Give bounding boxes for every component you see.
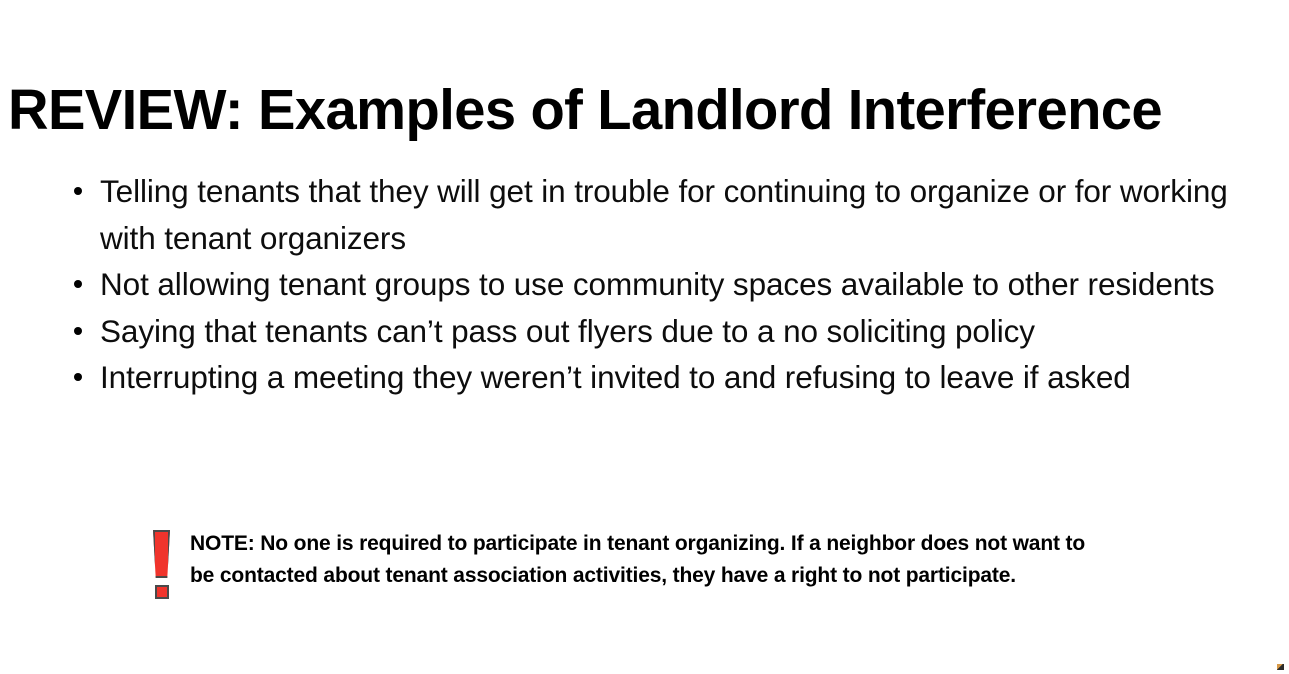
slide-canvas: REVIEW: Examples of Landlord Interferenc…	[0, 0, 1289, 674]
list-item: Saying that tenants can’t pass out flyer…	[66, 308, 1261, 355]
list-item-text: Interrupting a meeting they weren’t invi…	[100, 359, 1131, 395]
list-item-text: Saying that tenants can’t pass out flyer…	[100, 313, 1035, 349]
corner-artifact	[1277, 664, 1284, 670]
page-title: REVIEW: Examples of Landlord Interferenc…	[8, 78, 1264, 144]
note-callout: NOTE: No one is required to participate …	[150, 528, 1110, 612]
list-item-text: Not allowing tenant groups to use commun…	[100, 266, 1214, 302]
exclamation-bar-icon	[153, 530, 170, 578]
list-item-text: Telling tenants that they will get in tr…	[100, 173, 1228, 256]
bullet-point-icon	[74, 373, 82, 381]
list-item: Telling tenants that they will get in tr…	[66, 168, 1261, 261]
list-item: Interrupting a meeting they weren’t invi…	[66, 354, 1261, 401]
list-item: Not allowing tenant groups to use commun…	[66, 261, 1261, 308]
exclamation-dot-icon	[155, 585, 169, 599]
bullet-point-icon	[74, 280, 82, 288]
bullet-point-icon	[74, 327, 82, 335]
note-text: NOTE: No one is required to participate …	[190, 528, 1110, 591]
exclamation-icon	[150, 530, 174, 612]
bullet-list: Telling tenants that they will get in tr…	[66, 168, 1261, 401]
bullet-point-icon	[74, 187, 82, 195]
